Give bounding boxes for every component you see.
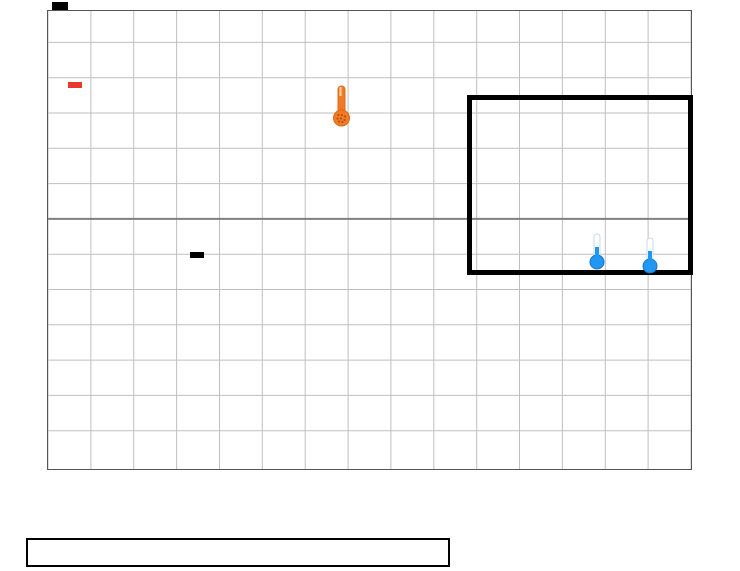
thermometer-hot-icon [331,84,353,130]
meteogram-root [0,0,740,571]
legend [60,503,196,507]
diagram-info-box [26,538,450,567]
thermometer-cold-icon-1 [588,233,606,273]
thermometer-cold-icon-2 [641,237,659,277]
control-line-swatch [154,503,188,507]
chart-title [52,2,68,10]
mean-line-swatch [60,503,94,507]
cooling-trend-highlight-box [467,95,693,275]
warm-annotation-banner [68,82,82,88]
cooling-annotation-box [190,252,204,258]
